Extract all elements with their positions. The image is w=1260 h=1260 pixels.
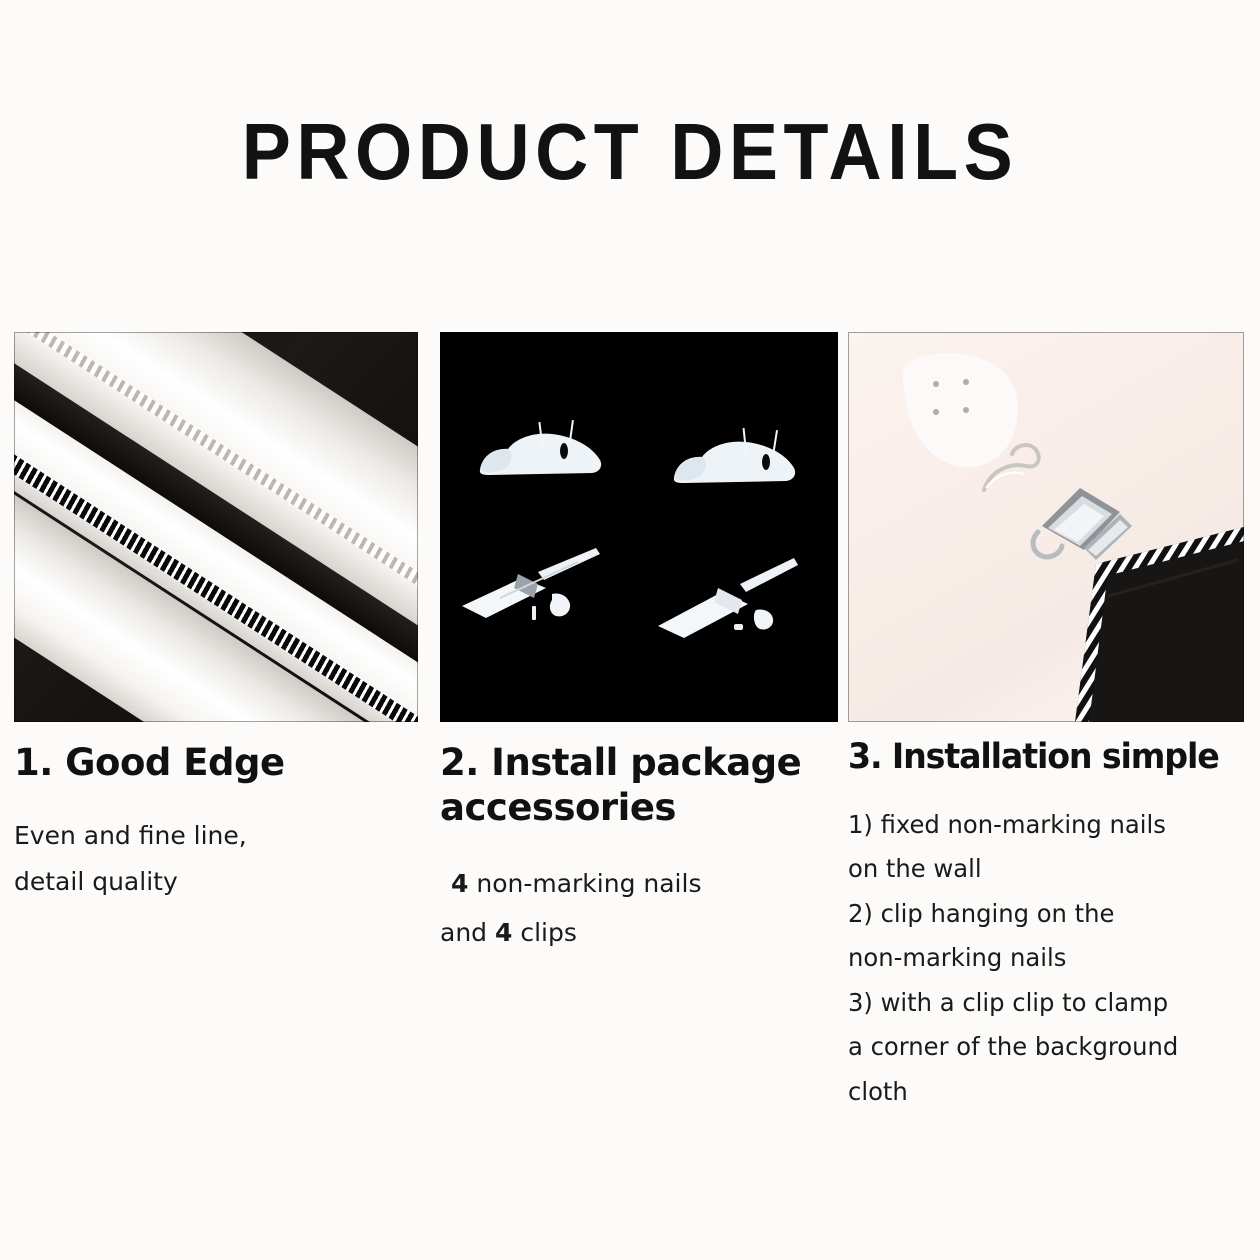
panel-border [440, 332, 838, 722]
non-marking-nail-icon [476, 420, 608, 482]
detail-column-3: 3. Installation simple 1) fixed non-mark… [848, 332, 1244, 722]
body-line: cloth [848, 1077, 908, 1106]
installation-photo [848, 332, 1244, 722]
accessory-count: 4 [451, 869, 468, 898]
caption-3: 3. Installation simple 1) fixed non-mark… [848, 736, 1244, 1114]
column-heading-3: 3. Installation simple [848, 736, 1224, 779]
page-title: PRODUCT DETAILS [50, 112, 1209, 192]
body-line: on the wall [848, 854, 982, 883]
detail-column-1: 1. Good Edge Even and fine line, detail … [14, 332, 418, 722]
caption-1: 1. Good Edge Even and fine line, detail … [14, 740, 418, 906]
detail-column-2: 2. Install package accessories 4 non-mar… [440, 332, 838, 722]
body-line: non-marking nails [848, 943, 1066, 972]
column-heading-1: 1. Good Edge [14, 740, 418, 785]
body-line: 1) fixed non-marking nails [848, 810, 1166, 839]
non-marking-nail-icon [670, 428, 802, 490]
fabric-edge-photo [14, 332, 418, 722]
caption-2: 2. Install package accessories 4 non-mar… [440, 740, 838, 958]
spring-clip-icon [656, 556, 802, 642]
spring-clip-icon [460, 544, 606, 630]
body-line: 3) with a clip clip to clamp [848, 988, 1168, 1017]
column-body-1: Even and fine line, detail quality [14, 813, 418, 906]
body-line: a corner of the background [848, 1032, 1178, 1061]
accessory-count: 4 [495, 918, 512, 947]
body-line: Even and fine line, [14, 821, 247, 850]
column-heading-2: 2. Install package accessories [440, 740, 838, 830]
backdrop-cloth-corner [1038, 500, 1244, 722]
accessories-photo [440, 332, 838, 722]
body-line: 2) clip hanging on the [848, 899, 1114, 928]
column-body-2: 4 non-marking nails and 4 clips [440, 860, 838, 958]
body-line: detail quality [14, 867, 178, 896]
column-body-3: 1) fixed non-marking nails on the wall 2… [848, 803, 1232, 1115]
body-line: 4 non-marking nails [440, 860, 701, 909]
body-line: and 4 clips [440, 918, 577, 947]
body-line-rest: non-marking nails [468, 869, 701, 898]
